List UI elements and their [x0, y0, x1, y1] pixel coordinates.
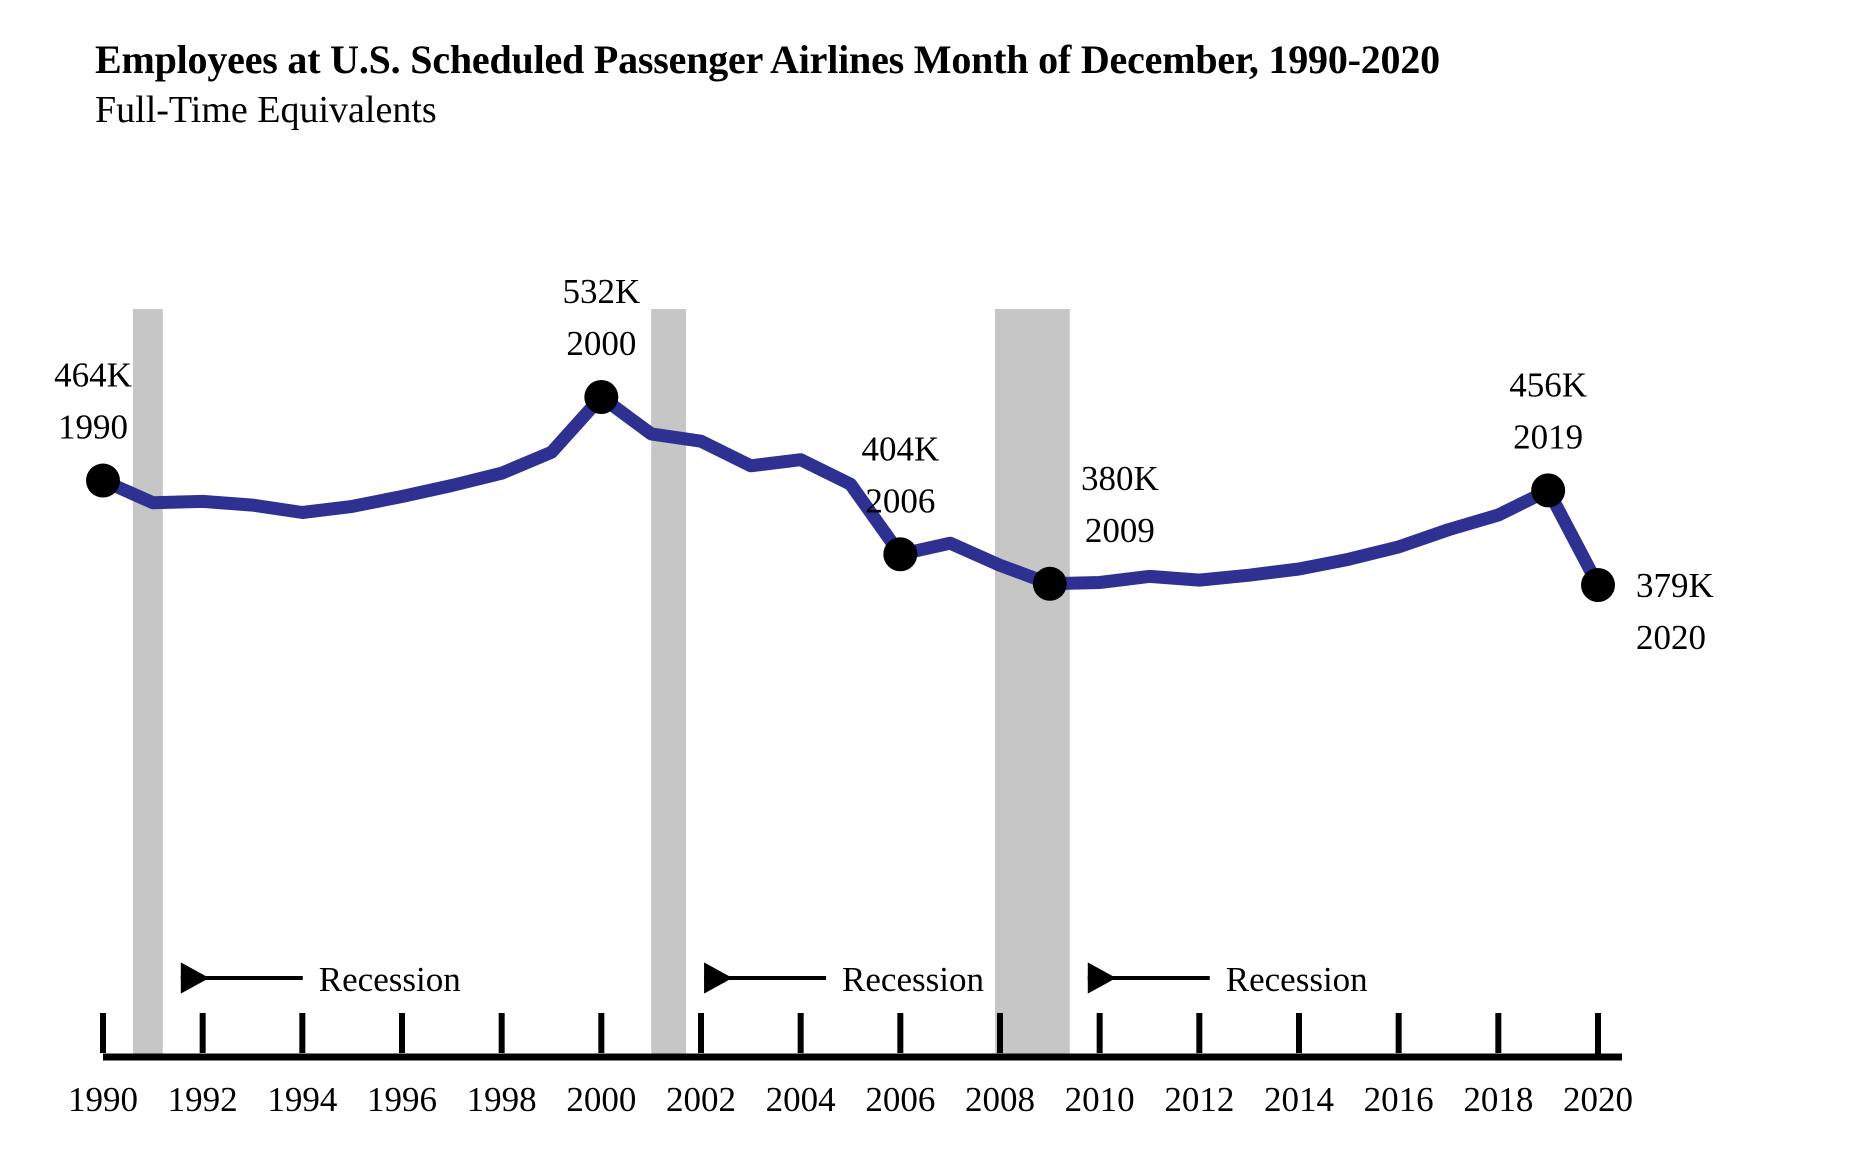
recession-band-1990 [133, 309, 163, 1057]
x-axis-tick-label: 2018 [1463, 1080, 1533, 1119]
data-point-value-label: 404K [861, 429, 939, 468]
x-axis [103, 1013, 1622, 1060]
data-point-marker [584, 380, 618, 414]
x-axis-tick-label: 2000 [566, 1080, 636, 1119]
x-axis-tick-label: 2010 [1065, 1080, 1135, 1119]
x-axis-tick-label: 1996 [367, 1080, 437, 1119]
recession-band-2001 [651, 309, 686, 1057]
data-point-marker [1581, 568, 1615, 602]
x-axis-tick-label: 1990 [68, 1080, 138, 1119]
x-axis-tick-label: 2016 [1364, 1080, 1434, 1119]
data-point-year-label: 1990 [58, 408, 128, 447]
data-point-marker [1033, 567, 1067, 601]
recession-bands [133, 309, 1070, 1057]
x-axis-tick-label: 2002 [666, 1080, 736, 1119]
data-point-value-label: 532K [562, 272, 640, 311]
x-axis-tick-label: 2014 [1264, 1080, 1334, 1119]
data-series-line [103, 397, 1598, 585]
x-axis-tick-label: 2012 [1164, 1080, 1234, 1119]
x-axis-tick-label: 1998 [467, 1080, 537, 1119]
data-point-year-label: 2000 [566, 324, 636, 363]
data-point-value-label: 379K [1636, 566, 1714, 605]
x-axis-tick-label: 2004 [766, 1080, 836, 1119]
data-point-value-label: 456K [1509, 365, 1587, 404]
data-point-marker [883, 537, 917, 571]
x-axis-tick-label: 2020 [1563, 1080, 1633, 1119]
chart-figure: Employees at U.S. Scheduled Passenger Ai… [0, 0, 1857, 1161]
line-chart-canvas: 1990199219941996199820002002200420062008… [0, 0, 1857, 1161]
data-point-labels: 464K1990532K2000404K2006380K2009456K2019… [54, 272, 1714, 657]
x-axis-tick-label: 1992 [168, 1080, 238, 1119]
recession-annotations: RecessionRecessionRecession [181, 960, 1368, 999]
data-point-value-label: 380K [1081, 459, 1159, 498]
data-point-year-label: 2009 [1085, 511, 1155, 550]
data-point-year-label: 2006 [865, 481, 935, 520]
x-axis-tick-labels: 1990199219941996199820002002200420062008… [68, 1080, 1633, 1119]
data-point-year-label: 2020 [1636, 618, 1706, 657]
recession-band-2008 [995, 309, 1070, 1057]
data-point-value-label: 464K [54, 356, 132, 395]
x-axis-tick-label: 2006 [865, 1080, 935, 1119]
data-point-marker [86, 464, 120, 498]
recession-label: Recession [319, 960, 461, 999]
data-point-year-label: 2019 [1513, 417, 1583, 456]
x-axis-ticks [103, 1013, 1598, 1053]
x-axis-tick-label: 1994 [267, 1080, 337, 1119]
data-point-marker [1531, 473, 1565, 507]
recession-label: Recession [1226, 960, 1368, 999]
x-axis-tick-label: 2008 [965, 1080, 1035, 1119]
recession-label: Recession [842, 960, 984, 999]
